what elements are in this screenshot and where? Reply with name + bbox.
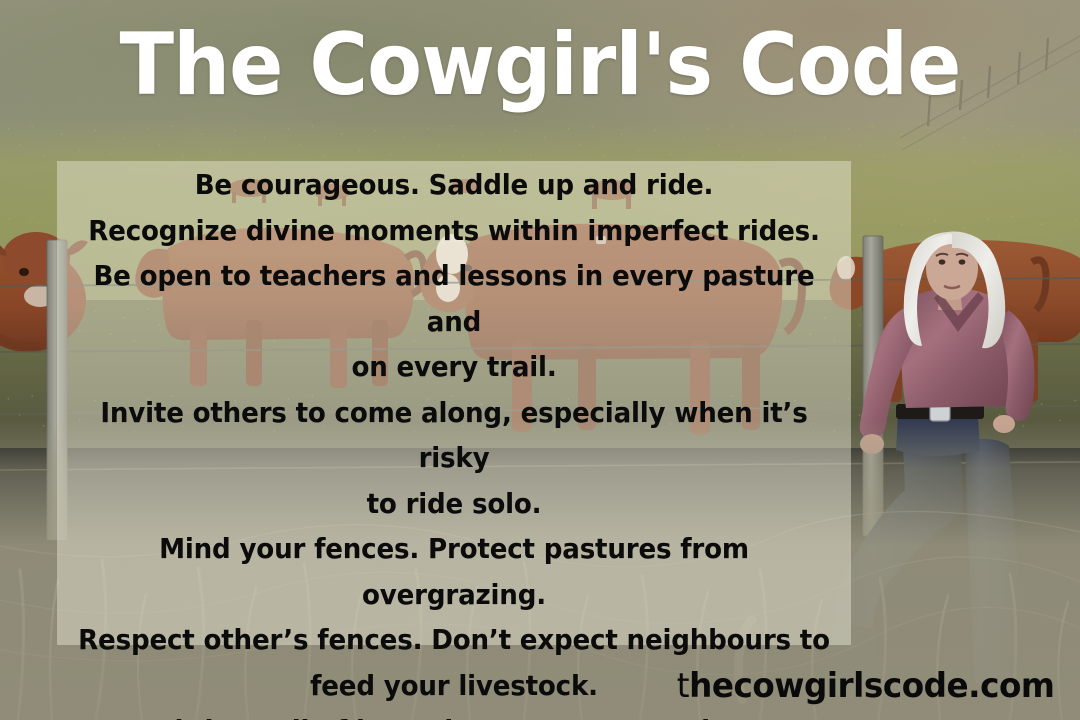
code-line: Be courageous. Saddle up and ride. xyxy=(77,163,831,209)
code-line: Recognize divine moments within imperfec… xyxy=(77,209,831,255)
code-line: Mind your fences. Protect pastures from … xyxy=(77,527,831,618)
code-line: Invite others to come along, especially … xyxy=(77,391,831,482)
website-url-lead: t xyxy=(676,666,688,706)
code-line: Be open to teachers and lessons in every… xyxy=(77,254,831,345)
code-line: Travel the trail of integrity. Honour co… xyxy=(77,709,831,720)
cowgirls-code-list: Be courageous. Saddle up and ride. Recog… xyxy=(57,163,851,720)
code-line: Respect other’s fences. Don’t expect nei… xyxy=(77,618,831,664)
website-url[interactable]: thecowgirlscode.com xyxy=(676,666,1054,706)
website-url-rest: hecowgirlscode.com xyxy=(689,666,1054,706)
poster-canvas: The Cowgirl's Code Be courageous. Saddle… xyxy=(0,0,1080,720)
code-line: on every trail. xyxy=(77,345,831,391)
page-title: The Cowgirl's Code xyxy=(38,22,1042,108)
code-line: to ride solo. xyxy=(77,482,831,528)
